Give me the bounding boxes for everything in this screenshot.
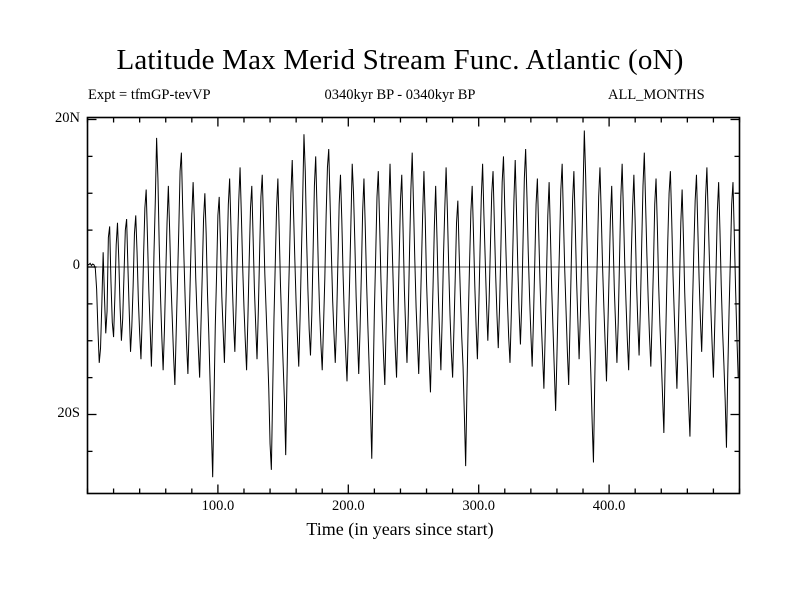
chart-svg — [0, 0, 800, 600]
y-axis-ticks — [88, 120, 740, 452]
y-tick-label: 20N — [18, 110, 80, 127]
chart-page: Latitude Max Merid Stream Func. Atlantic… — [0, 0, 800, 600]
x-tick-label: 200.0 — [308, 498, 388, 515]
y-tick-label: 20S — [18, 405, 80, 422]
x-tick-label: 100.0 — [178, 498, 258, 515]
x-tick-label: 300.0 — [439, 498, 519, 515]
plot-area — [0, 0, 800, 600]
data-series-line — [88, 131, 739, 478]
x-tick-label: 400.0 — [569, 498, 649, 515]
y-tick-label: 0 — [18, 257, 80, 274]
x-axis-title: Time (in years since start) — [0, 519, 800, 540]
